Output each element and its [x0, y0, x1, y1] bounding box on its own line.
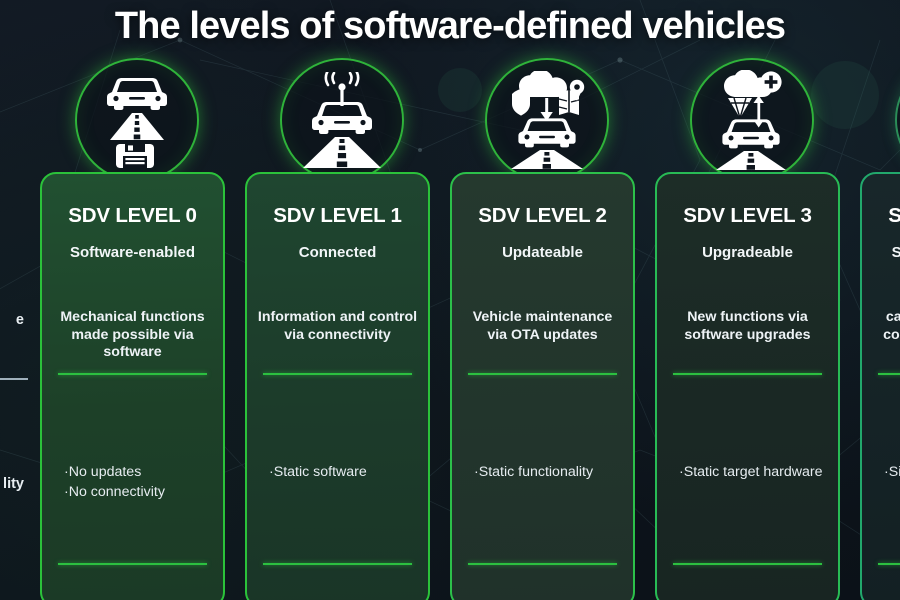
cloud-plus-diamond-upgrade-car-icon — [708, 70, 796, 170]
icon-circle-level-2 — [485, 58, 609, 182]
list-item: ·No connectivity — [64, 482, 211, 502]
card-level-title: SDV LEVEL 1 — [257, 204, 418, 228]
list-item: ·Single — [884, 462, 900, 482]
card-sdv-level-4[interactable]: SDV LEVEL 4 Software-defined car and fea… — [860, 172, 900, 600]
page-title: The levels of software-defined vehicles — [0, 0, 900, 54]
card-bullet-list: ·Static functionality — [474, 462, 621, 482]
icon-circle-level-1 — [280, 58, 404, 182]
card-divider-top — [58, 373, 207, 375]
icon-circle-level-0 — [75, 58, 199, 182]
card-level-title: SDV LEVEL 0 — [52, 204, 213, 228]
card-divider-top — [468, 373, 617, 375]
card-subtitle: Connected — [257, 244, 418, 261]
card-description: Information and control via connectivity — [257, 309, 418, 344]
icon-circle-level-3 — [690, 58, 814, 182]
card-divider-top — [673, 373, 822, 375]
card-divider-top — [878, 373, 900, 375]
card-description: New functions via software upgrades — [667, 309, 828, 344]
card-divider-bottom — [263, 563, 412, 565]
card-divider-top — [263, 373, 412, 375]
card-sdv-level-1[interactable]: SDV LEVEL 1 Connected Information and co… — [245, 172, 430, 600]
card-divider-bottom — [58, 563, 207, 565]
list-item: ·Static target hardware — [679, 462, 826, 482]
card-description: car and features via continuous software — [872, 309, 900, 344]
card-level-title: SDV LEVEL 3 — [667, 204, 828, 228]
card-subtitle: Upgradeable — [667, 244, 828, 261]
cloud-shield-map-download-car-icon — [501, 71, 593, 169]
card-description: Vehicle maintenance via OTA updates — [462, 309, 623, 344]
card-sdv-level-3[interactable]: SDV LEVEL 3 Upgradeable New functions vi… — [655, 172, 840, 600]
list-item: ·Static functionality — [474, 462, 621, 482]
card-bullet-list: ·Static software — [269, 462, 416, 482]
card-subtitle: Updateable — [462, 244, 623, 261]
list-item: ·Static software — [269, 462, 416, 482]
row-label-capability: lity — [0, 476, 24, 492]
card-level-title: SDV LEVEL 2 — [462, 204, 623, 228]
infographic-canvas: The levels of software-defined vehicles … — [0, 0, 900, 600]
list-item: ·No updates — [64, 462, 211, 482]
row-label-features: e — [0, 312, 24, 328]
card-divider-bottom — [468, 563, 617, 565]
icon-circle-level-4 — [895, 58, 900, 182]
car-road-antenna-signal-icon — [299, 72, 385, 168]
card-description: Mechanical functions made possible via s… — [52, 309, 213, 362]
card-bullet-list: ·Single — [884, 462, 900, 482]
row-label-divider — [0, 378, 28, 380]
card-divider-bottom — [878, 563, 900, 565]
card-sdv-level-2[interactable]: SDV LEVEL 2 Updateable Vehicle maintenan… — [450, 172, 635, 600]
card-sdv-level-0[interactable]: SDV LEVEL 0 Software-enabled Mechanical … — [40, 172, 225, 600]
card-subtitle: Software-defined — [872, 244, 900, 261]
card-subtitle: Software-enabled — [52, 244, 213, 261]
card-level-title: SDV LEVEL 4 — [872, 204, 900, 228]
car-road-floppy-disk-icon — [98, 72, 176, 168]
card-bullet-list: ·Static target hardware — [679, 462, 826, 482]
card-divider-bottom — [673, 563, 822, 565]
card-bullet-list: ·No updates ·No connectivity — [64, 462, 211, 502]
